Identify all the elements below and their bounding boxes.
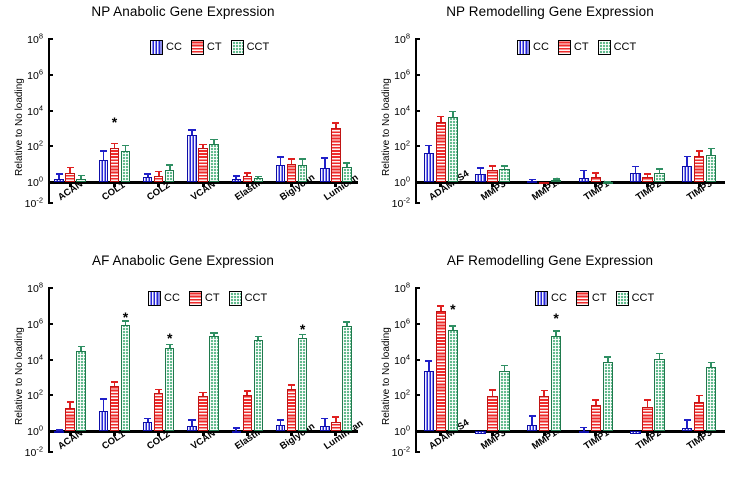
legend-item-cct: CCT	[616, 291, 655, 306]
bar-cc	[682, 428, 693, 431]
y-tick	[415, 394, 420, 396]
bar-cc	[232, 431, 242, 433]
legend-label-cc: CC	[164, 293, 180, 304]
panel-af-anabolic: AF Anabolic Gene ExpressionCCCTCCTRelati…	[0, 249, 366, 498]
bar-ct	[287, 164, 297, 182]
legend-swatch-cct	[229, 291, 242, 306]
error-bar-cap	[122, 145, 129, 147]
bar-cct	[342, 167, 352, 182]
y-tick	[48, 145, 53, 147]
bar-cc	[475, 174, 486, 182]
error-bar-cap	[100, 398, 107, 400]
bar-cc	[579, 178, 590, 182]
bar-ct	[436, 311, 447, 431]
bar-cc	[682, 166, 693, 182]
error-bar-cap	[144, 173, 151, 175]
y-tick	[48, 38, 53, 40]
bar-ct	[539, 182, 550, 184]
bar-ct	[65, 173, 75, 182]
bar-ct	[287, 389, 297, 431]
bar-cct	[499, 371, 510, 431]
legend-swatch-cc	[535, 291, 548, 306]
bar-ct	[110, 386, 120, 431]
error-bar-cap	[56, 173, 63, 175]
y-tick-label: 10-2	[392, 444, 410, 459]
bar-cct	[254, 340, 264, 431]
bar-cc	[143, 422, 153, 431]
error-bar-cap	[155, 389, 162, 391]
legend-item-ct: CT	[558, 40, 589, 55]
y-tick	[48, 359, 53, 361]
y-tick	[415, 145, 420, 147]
error-bar-cap	[708, 148, 715, 150]
bar-ct	[591, 405, 602, 431]
bar-cc	[54, 179, 64, 182]
y-tick-label: 106	[27, 67, 43, 82]
figure-root: NP Anabolic Gene ExpressionCCCTCCTRelati…	[0, 0, 733, 498]
legend-swatch-ct	[576, 291, 589, 306]
error-bar-cap	[188, 419, 195, 421]
error-bar-cap	[696, 395, 703, 397]
error-bar-cap	[78, 175, 85, 177]
y-tick	[48, 74, 53, 76]
bar-cct	[76, 179, 86, 182]
bar-ct	[694, 402, 705, 431]
significance-star: *	[450, 302, 455, 316]
legend-item-cct: CCT	[231, 40, 270, 55]
y-tick	[415, 323, 420, 325]
y-tick-label: 106	[394, 316, 410, 331]
error-bar-cap	[67, 167, 74, 169]
y-tick	[48, 451, 53, 453]
y-axis-line	[415, 39, 417, 203]
error-bar-cap	[684, 419, 691, 421]
bar-ct	[642, 407, 653, 431]
error-bar-cap	[449, 111, 456, 113]
bar-cc	[276, 425, 286, 431]
error-bar-cap	[67, 401, 74, 403]
error-bar-cap	[166, 164, 173, 166]
error-bar-cap	[277, 156, 284, 158]
error-bar-cap	[696, 150, 703, 152]
error-bar-cap	[425, 360, 432, 362]
y-tick-label: 104	[27, 103, 43, 118]
bar-cct	[603, 362, 614, 431]
error-bar-cap	[501, 165, 508, 167]
y-tick	[48, 202, 53, 204]
bar-cct	[448, 117, 459, 182]
error-bar-stem	[428, 360, 430, 371]
bar-ct	[65, 408, 75, 431]
y-axis-title: Relative to No loading	[14, 78, 25, 176]
error-bar-cap	[144, 418, 151, 420]
y-axis-title: Relative to No loading	[381, 78, 392, 176]
bar-ct	[487, 396, 498, 431]
y-tick	[48, 323, 53, 325]
bar-cct	[76, 351, 86, 431]
bar-cct	[706, 367, 717, 431]
legend-swatch-ct	[558, 40, 571, 55]
error-bar-cap	[489, 389, 496, 391]
bar-cct	[551, 336, 562, 431]
y-tick-label: 106	[27, 316, 43, 331]
error-bar-cap	[708, 362, 715, 364]
legend-item-cc: CC	[517, 40, 549, 55]
bar-cc	[232, 179, 242, 182]
chart-legend: CCCTCCT	[517, 40, 636, 55]
error-bar-stem	[103, 398, 105, 410]
bar-cct	[298, 338, 308, 431]
error-bar-cap	[656, 353, 663, 355]
panel-np-remodelling: NP Remodelling Gene ExpressionCCCTCCTRel…	[367, 0, 733, 249]
legend-swatch-cct	[598, 40, 611, 55]
panel-title: NP Anabolic Gene Expression	[0, 4, 366, 19]
y-tick-label: 100	[27, 423, 43, 438]
error-bar-cap	[255, 336, 262, 338]
bar-ct	[331, 128, 341, 182]
error-bar-cap	[529, 179, 536, 181]
error-bar-cap	[321, 418, 328, 420]
y-axis-line	[415, 288, 417, 452]
y-tick	[48, 287, 53, 289]
legend-label-cct: CCT	[245, 293, 268, 304]
panel-title: AF Anabolic Gene Expression	[0, 253, 366, 268]
error-bar-stem	[324, 157, 326, 168]
y-axis-title: Relative to No loading	[381, 327, 392, 425]
error-bar-cap	[592, 172, 599, 174]
bar-cct	[209, 144, 219, 182]
legend-swatch-ct	[191, 40, 204, 55]
legend-label-cct: CCT	[247, 42, 270, 53]
error-bar-cap	[553, 178, 560, 180]
error-bar-cap	[199, 392, 206, 394]
error-bar-cap	[100, 150, 107, 152]
error-bar-cap	[343, 162, 350, 164]
legend-label-cct: CCT	[614, 42, 637, 53]
error-bar-cap	[332, 416, 339, 418]
y-tick	[415, 202, 420, 204]
legend-label-ct: CT	[205, 293, 220, 304]
error-bar-cap	[541, 390, 548, 392]
error-bar-cap	[580, 427, 587, 429]
error-bar-cap	[233, 427, 240, 429]
error-bar-cap	[501, 365, 508, 367]
bar-cct	[654, 359, 665, 431]
y-axis-title: Relative to No loading	[14, 327, 25, 425]
y-tick	[415, 430, 420, 432]
y-tick	[48, 394, 53, 396]
bar-cct	[121, 151, 131, 182]
legend-swatch-cc	[148, 291, 161, 306]
error-bar-cap	[632, 166, 639, 168]
y-tick-label: 108	[27, 31, 43, 46]
bar-cc	[579, 431, 590, 433]
significance-star: *	[167, 331, 172, 345]
bar-ct	[243, 176, 253, 182]
error-bar-cap	[604, 181, 611, 183]
y-tick-label: 108	[394, 280, 410, 295]
error-bar-cap	[210, 332, 217, 334]
error-bar-cap	[277, 419, 284, 421]
y-tick	[415, 181, 420, 183]
error-bar-cap	[343, 321, 350, 323]
bar-ct	[591, 177, 602, 182]
bar-ct	[694, 156, 705, 182]
error-bar-cap	[244, 390, 251, 392]
significance-star: *	[553, 311, 558, 325]
error-bar-cap	[288, 158, 295, 160]
y-tick-label: 102	[394, 388, 410, 403]
y-tick	[415, 287, 420, 289]
legend-item-cc: CC	[535, 291, 567, 306]
error-bar-cap	[199, 144, 206, 146]
legend-label-ct: CT	[207, 42, 222, 53]
bar-cct	[706, 155, 717, 182]
y-tick	[48, 181, 53, 183]
bar-ct	[154, 176, 164, 182]
y-tick	[48, 430, 53, 432]
bar-ct	[642, 177, 653, 182]
bar-cct	[551, 180, 562, 182]
bar-cc	[143, 177, 153, 182]
legend-label-ct: CT	[592, 293, 607, 304]
error-bar-cap	[332, 122, 339, 124]
error-bar-cap	[644, 173, 651, 175]
bar-cc	[630, 173, 641, 182]
panel-title: AF Remodelling Gene Expression	[367, 253, 733, 268]
y-axis-line	[48, 39, 50, 203]
bar-ct	[198, 396, 208, 431]
error-bar-cap	[553, 330, 560, 332]
y-tick	[415, 110, 420, 112]
bar-cc	[276, 165, 286, 182]
error-bar-cap	[210, 139, 217, 141]
bar-cc	[527, 181, 538, 183]
error-bar-cap	[425, 145, 432, 147]
bar-cc	[54, 431, 64, 433]
legend-label-ct: CT	[574, 42, 589, 53]
bar-cct	[654, 173, 665, 182]
significance-star: *	[123, 310, 128, 324]
bar-cct	[209, 336, 219, 431]
y-tick	[415, 38, 420, 40]
y-tick	[415, 74, 420, 76]
error-bar-cap	[437, 116, 444, 118]
y-tick-label: 10-2	[25, 444, 43, 459]
legend-swatch-cc	[150, 40, 163, 55]
legend-label-cc: CC	[551, 293, 567, 304]
bar-cc	[187, 135, 197, 182]
legend-label-cc: CC	[166, 42, 182, 53]
chart-legend: CCCTCCT	[535, 291, 654, 306]
bar-ct	[539, 396, 550, 431]
significance-star: *	[112, 115, 117, 129]
bar-ct	[436, 122, 447, 182]
bar-cct	[499, 169, 510, 182]
chart-legend: CCCTCCT	[148, 291, 267, 306]
bar-cct	[165, 170, 175, 182]
y-tick-label: 104	[27, 352, 43, 367]
error-bar-cap	[437, 305, 444, 307]
error-bar-cap	[111, 381, 118, 383]
y-tick-label: 102	[394, 139, 410, 154]
legend-label-cc: CC	[533, 42, 549, 53]
y-tick	[48, 110, 53, 112]
bar-cc	[630, 431, 641, 434]
bar-cct	[121, 325, 131, 431]
panel-np-anabolic: NP Anabolic Gene ExpressionCCCTCCTRelati…	[0, 0, 366, 249]
error-bar-cap	[449, 325, 456, 327]
y-tick-label: 104	[394, 103, 410, 118]
y-tick-label: 102	[27, 388, 43, 403]
error-bar-cap	[299, 158, 306, 160]
y-tick-label: 102	[27, 139, 43, 154]
bar-cc	[424, 371, 435, 431]
error-bar-cap	[604, 356, 611, 358]
legend-item-cc: CC	[150, 40, 182, 55]
y-tick-label: 10-2	[25, 195, 43, 210]
bar-cc	[187, 426, 197, 431]
error-bar-cap	[529, 415, 536, 417]
error-bar-cap	[656, 168, 663, 170]
bar-cc	[424, 153, 435, 182]
legend-swatch-cct	[231, 40, 244, 55]
bar-cct	[448, 330, 459, 431]
bar-ct	[331, 422, 341, 431]
error-bar-cap	[288, 384, 295, 386]
error-bar-cap	[644, 399, 651, 401]
chart-legend: CCCTCCT	[150, 40, 269, 55]
bar-cc	[99, 160, 109, 182]
y-tick-label: 104	[394, 352, 410, 367]
y-tick	[415, 451, 420, 453]
y-tick-label: 100	[394, 423, 410, 438]
bar-cct	[165, 348, 175, 431]
bar-cc	[99, 411, 109, 431]
error-bar-cap	[111, 143, 118, 145]
legend-item-ct: CT	[191, 40, 222, 55]
error-bar-cap	[233, 175, 240, 177]
legend-label-cct: CCT	[632, 293, 655, 304]
bar-ct	[198, 148, 208, 182]
panel-title: NP Remodelling Gene Expression	[367, 4, 733, 19]
legend-item-cct: CCT	[598, 40, 637, 55]
bar-cct	[254, 178, 264, 182]
legend-item-cc: CC	[148, 291, 180, 306]
bar-ct	[110, 148, 120, 182]
legend-swatch-cc	[517, 40, 530, 55]
y-tick-label: 100	[394, 174, 410, 189]
y-tick-label: 10-2	[392, 195, 410, 210]
legend-swatch-cct	[616, 291, 629, 306]
panel-af-remodelling: AF Remodelling Gene ExpressionCCCTCCTRel…	[367, 249, 733, 498]
error-bar-cap	[155, 171, 162, 173]
bar-ct	[243, 395, 253, 431]
bar-ct	[154, 393, 164, 431]
bar-cct	[342, 326, 352, 431]
legend-item-ct: CT	[189, 291, 220, 306]
error-bar-cap	[580, 170, 587, 172]
bar-cct	[298, 165, 308, 182]
y-axis-line	[48, 288, 50, 452]
y-tick-label: 100	[27, 174, 43, 189]
y-tick-label: 106	[394, 67, 410, 82]
significance-star: *	[300, 322, 305, 336]
error-bar-cap	[56, 429, 63, 431]
legend-swatch-ct	[189, 291, 202, 306]
bar-ct	[487, 170, 498, 182]
error-bar-cap	[477, 167, 484, 169]
bar-cc	[475, 431, 486, 434]
legend-item-cct: CCT	[229, 291, 268, 306]
error-bar-cap	[78, 346, 85, 348]
error-bar-cap	[255, 176, 262, 178]
legend-item-ct: CT	[576, 291, 607, 306]
error-bar-cap	[321, 157, 328, 159]
bar-cc	[320, 168, 330, 182]
error-bar-cap	[684, 156, 691, 158]
bar-cc	[527, 425, 538, 431]
y-tick	[415, 359, 420, 361]
bar-cc	[320, 426, 330, 431]
error-bar-cap	[244, 172, 251, 174]
error-bar-cap	[188, 129, 195, 131]
y-tick-label: 108	[27, 280, 43, 295]
y-tick-label: 108	[394, 31, 410, 46]
error-bar-cap	[592, 399, 599, 401]
error-bar-cap	[489, 165, 496, 167]
